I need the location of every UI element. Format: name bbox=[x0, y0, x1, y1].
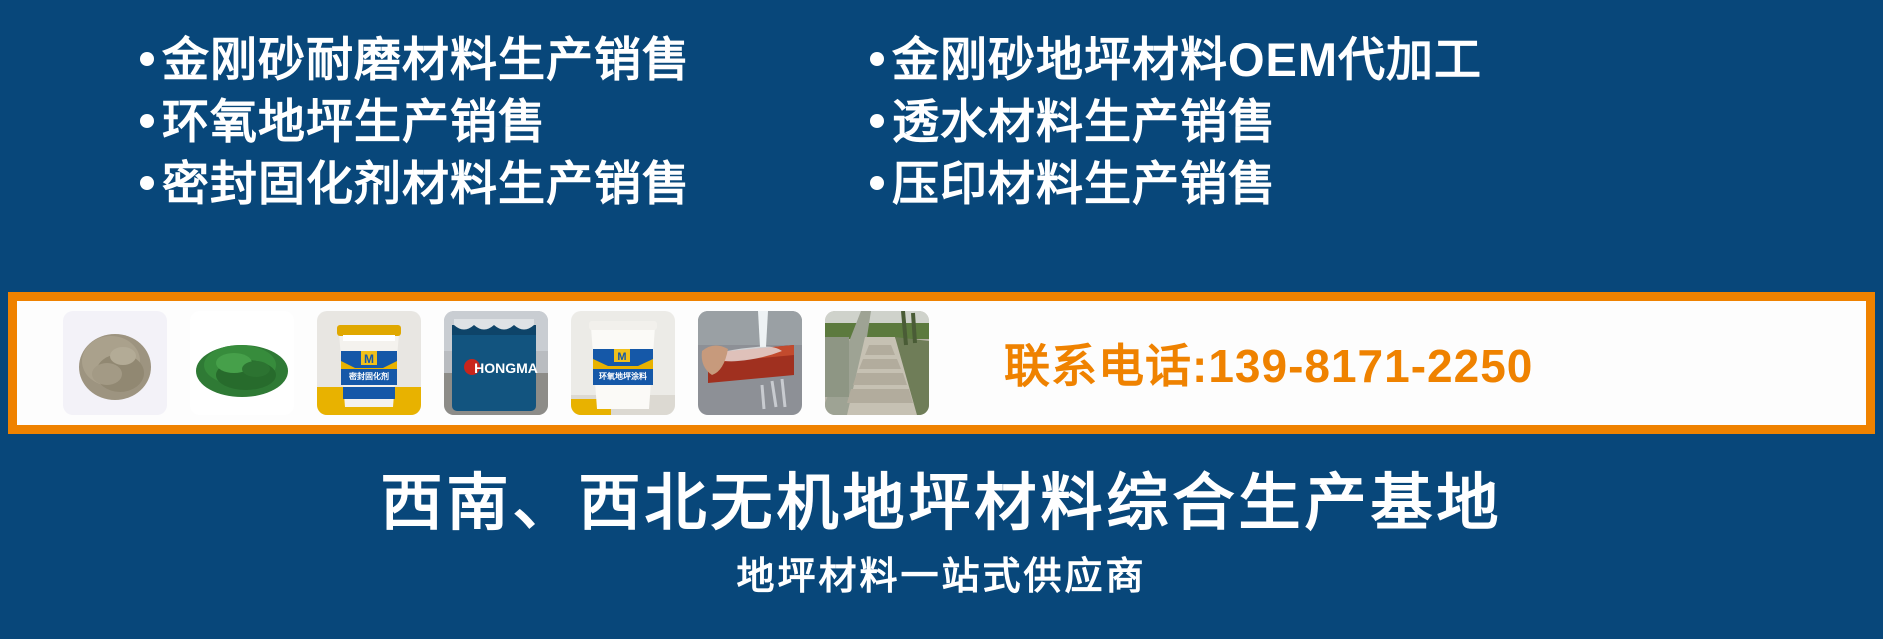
service-list: 金刚砂耐磨材料生产销售 环氧地坪生产销售 密封固化剂材料生产销售 金刚砂地坪材料… bbox=[0, 28, 1883, 276]
gray-abrasive-powder-photo bbox=[63, 311, 167, 415]
epoxy-bucket-photo: M 环氧地坪涂料 bbox=[571, 311, 675, 415]
service-item-label: 金刚砂地坪材料OEM代加工 bbox=[892, 36, 1482, 83]
service-list-left-column: 金刚砂耐磨材料生产销售 环氧地坪生产销售 密封固化剂材料生产销售 bbox=[140, 28, 860, 214]
svg-text:M: M bbox=[364, 352, 374, 366]
service-item: 金刚砂地坪材料OEM代加工 bbox=[870, 28, 1770, 90]
sealer-bucket-photo: M 密封固化剂 bbox=[317, 311, 421, 415]
svg-text:HONGMA: HONGMA bbox=[474, 360, 538, 376]
contact-phone-label[interactable]: 联系电话:139-8171-2250 bbox=[1004, 330, 1533, 396]
service-item-label: 环氧地坪生产销售 bbox=[162, 98, 546, 145]
service-item-label: 透水材料生产销售 bbox=[892, 98, 1276, 145]
svg-text:M: M bbox=[617, 351, 626, 363]
service-item: 密封固化剂材料生产销售 bbox=[140, 152, 860, 214]
bullet-dot-icon bbox=[140, 114, 154, 128]
stamped-walkway-photo bbox=[825, 311, 929, 415]
service-item-label: 密封固化剂材料生产销售 bbox=[162, 160, 690, 207]
bullet-dot-icon bbox=[870, 176, 884, 190]
green-powder-photo bbox=[190, 311, 294, 415]
bullet-dot-icon bbox=[870, 52, 884, 66]
service-item: 压印材料生产销售 bbox=[870, 152, 1770, 214]
permeable-slab-photo bbox=[698, 311, 802, 415]
product-photo-strip: M 密封固化剂 HONGMA bbox=[8, 292, 1875, 434]
service-item-label: 金刚砂耐磨材料生产销售 bbox=[162, 36, 690, 83]
bullet-dot-icon bbox=[870, 114, 884, 128]
service-item: 透水材料生产销售 bbox=[870, 90, 1770, 152]
svg-text:环氧地坪涂料: 环氧地坪涂料 bbox=[599, 371, 647, 381]
bullet-dot-icon bbox=[140, 176, 154, 190]
product-photo-row: M 密封固化剂 HONGMA bbox=[63, 311, 952, 415]
service-list-right-column: 金刚砂地坪材料OEM代加工 透水材料生产销售 压印材料生产销售 bbox=[870, 28, 1770, 214]
service-item: 金刚砂耐磨材料生产销售 bbox=[140, 28, 860, 90]
contact-phone[interactable]: 联系电话:139-8171-2250 bbox=[1004, 330, 1533, 396]
headline: 西南、西北无机地坪材料综合生产基地 bbox=[0, 452, 1883, 542]
subheadline: 地坪材料一站式供应商 bbox=[0, 545, 1883, 600]
hongma-drum-photo: HONGMA bbox=[444, 311, 548, 415]
service-item-label: 压印材料生产销售 bbox=[892, 160, 1276, 207]
advertising-banner: 金刚砂耐磨材料生产销售 环氧地坪生产销售 密封固化剂材料生产销售 金刚砂地坪材料… bbox=[0, 0, 1883, 639]
service-item: 环氧地坪生产销售 bbox=[140, 90, 860, 152]
bullet-dot-icon bbox=[140, 52, 154, 66]
svg-text:密封固化剂: 密封固化剂 bbox=[348, 371, 389, 381]
